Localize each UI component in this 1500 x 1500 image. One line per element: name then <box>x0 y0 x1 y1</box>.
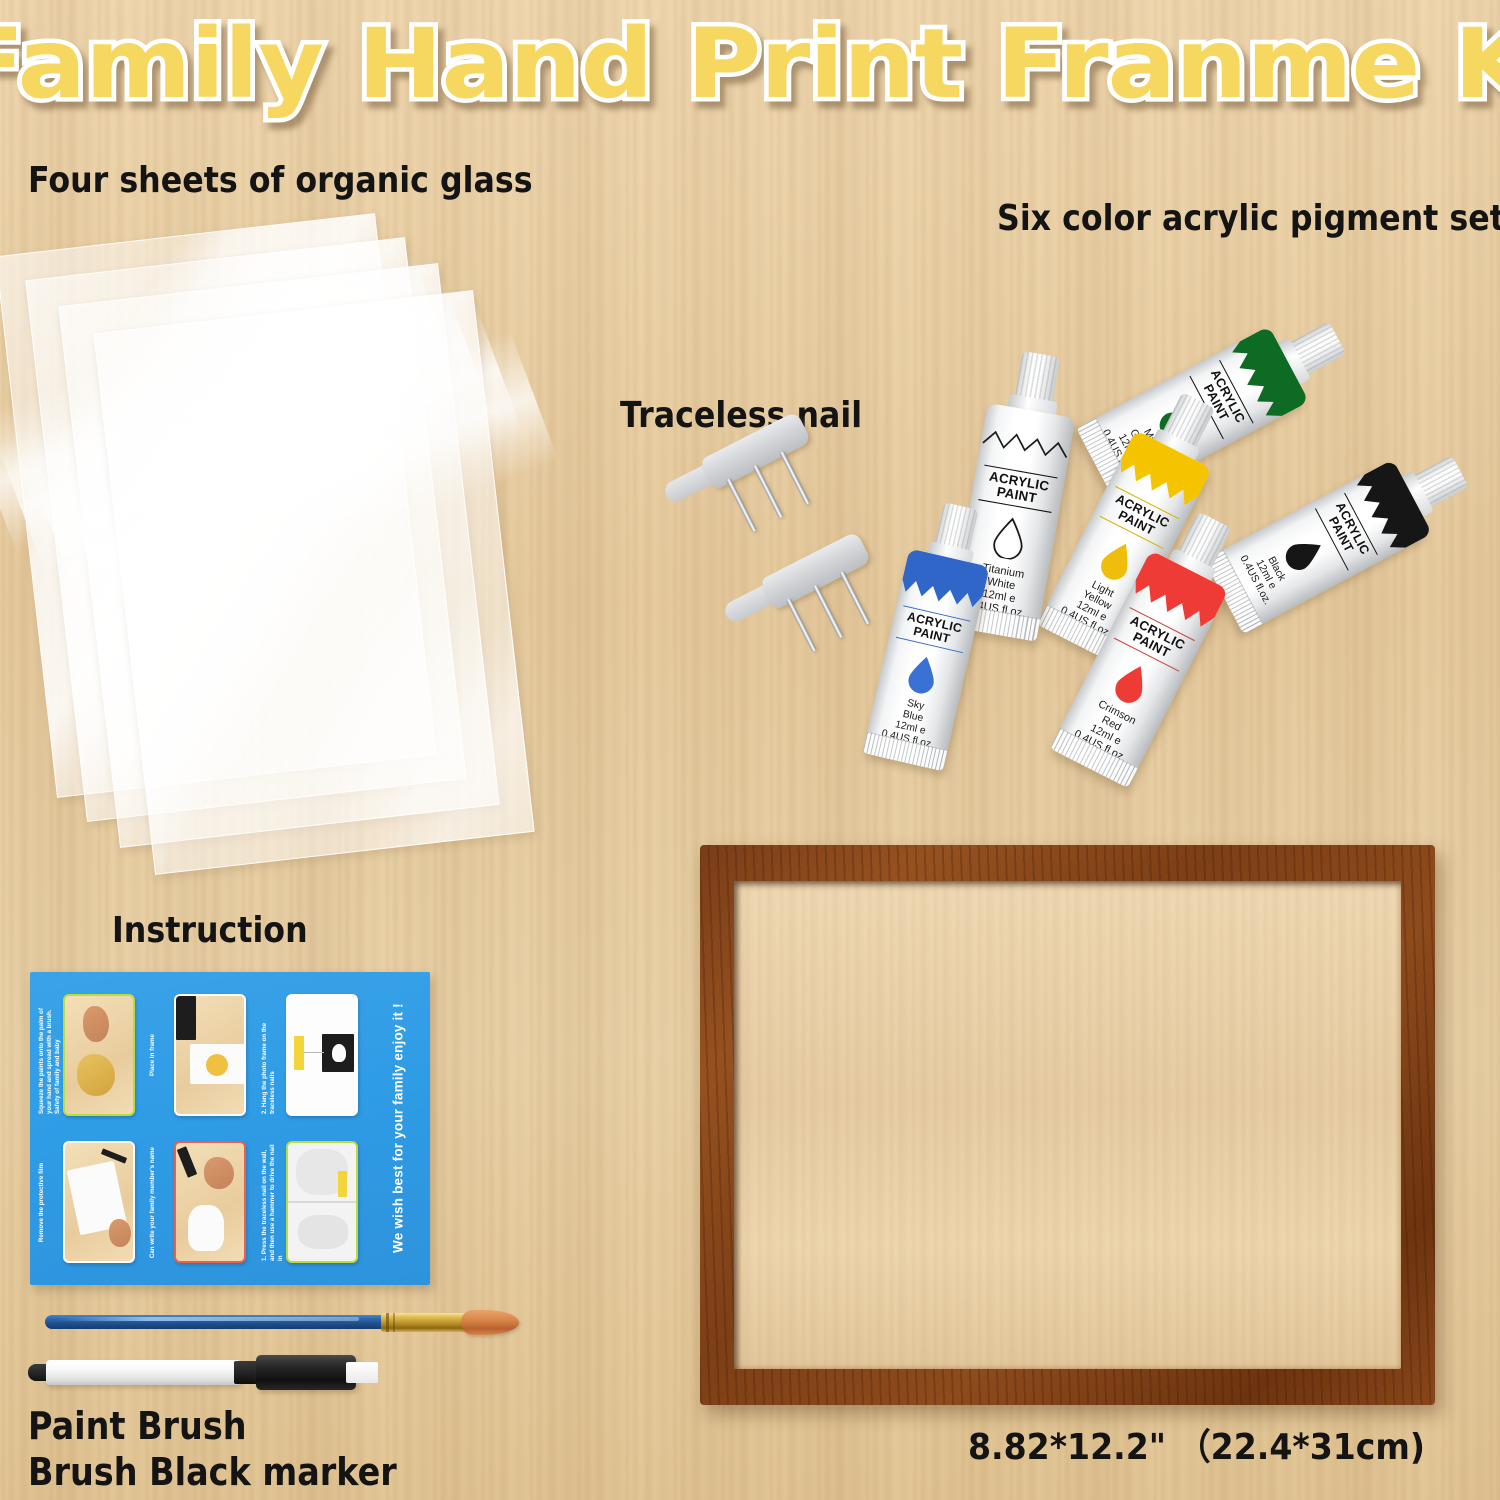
hand-shape <box>83 1006 109 1042</box>
glass-reflection <box>65 330 559 629</box>
instruction-step: 1. Press the traceless nail on the wall,… <box>261 1130 370 1276</box>
black-marker <box>28 1352 373 1392</box>
frame-inner-panel <box>734 881 1401 1369</box>
yellow-tag <box>294 1036 304 1070</box>
brush-bristles <box>461 1310 519 1335</box>
instruction-step-photo <box>286 1141 358 1263</box>
marker-cap <box>256 1355 356 1390</box>
instruction-step: Can write your family member's name <box>149 1130 258 1276</box>
instruction-grid: Squeeze the paints onto the palm of your… <box>30 972 430 1285</box>
photo-frame <box>700 845 1435 1405</box>
instruction-step-caption: Can write your family member's name <box>149 1147 171 1258</box>
instruction-step: Place in frame <box>149 982 258 1128</box>
brush-ferrule-ring <box>393 1313 395 1332</box>
product-infographic: Family Hand Print Franme Kit Four sheets… <box>0 0 1500 1500</box>
nail-pin <box>780 451 811 505</box>
paint-tube-black: ACRYLIC PAINT Black 12ml e 0.4US fl.oz. <box>1204 434 1480 634</box>
marker-tip <box>346 1362 378 1383</box>
dark-region <box>176 996 196 1040</box>
guide-line <box>304 1052 324 1054</box>
page-title: Family Hand Print Franme Kit <box>0 8 1500 120</box>
nail-pin <box>786 598 817 652</box>
instruction-step-caption: 2. Hang the photo frame on the traceless… <box>261 996 283 1114</box>
instruction-step: Squeeze the paints onto the palm of your… <box>38 982 147 1128</box>
tube-color-band <box>978 403 1076 475</box>
divider <box>288 1201 356 1203</box>
handprint-shape <box>188 1205 224 1251</box>
nail-illustration <box>332 1044 346 1062</box>
hand-shape <box>109 1219 131 1247</box>
marker-illustration <box>177 1146 198 1178</box>
tube-label: ACRYLIC PAINT Sky Blue 12ml e 0.4US fl.o… <box>866 604 977 754</box>
handprint-art <box>206 1054 228 1076</box>
nail-pin <box>840 571 871 625</box>
hammer-action <box>298 1215 348 1249</box>
nail-pin <box>813 584 844 638</box>
nail-pin <box>726 478 757 532</box>
instruction-step-photo <box>174 1141 246 1263</box>
instruction-step-caption: Remove the protective film <box>38 1163 60 1242</box>
label-frame-dimensions: 8.82*12.2" （22.4*31cm) <box>968 1418 1425 1470</box>
paint-tube-sky-blue: ACRYLIC PAINT Sky Blue 12ml e 0.4US fl.o… <box>862 497 1001 771</box>
instruction-step-caption: 1. Press the traceless nail on the wall,… <box>261 1143 283 1261</box>
label-paint-brush: Paint Brush <box>28 1404 247 1448</box>
paint-brush <box>45 1305 520 1339</box>
label-organic-glass: Four sheets of organic glass <box>28 160 533 201</box>
brush-ferrule-ring <box>386 1313 389 1332</box>
instruction-step-photo <box>63 994 135 1116</box>
instruction-wish-text: We wish best for your family enjoy it ! <box>372 982 424 1275</box>
instruction-step-photo <box>174 994 246 1116</box>
brush-handle-highlight <box>59 1317 359 1321</box>
label-black-marker: Brush Black marker <box>28 1450 397 1494</box>
label-instruction: Instruction <box>112 910 308 951</box>
instruction-step-photo <box>63 1141 135 1263</box>
hand-shape <box>204 1157 234 1189</box>
instruction-step: Remove the protective film <box>38 1130 147 1276</box>
glass-sheet <box>93 290 534 875</box>
yellow-tag <box>338 1171 347 1197</box>
instruction-step-photo <box>286 994 358 1116</box>
label-pigment-set: Six color acrylic pigment set <box>997 198 1500 239</box>
instruction-card: Squeeze the paints onto the palm of your… <box>30 972 430 1285</box>
tube-body: ACRYLIC PAINT Sky Blue 12ml e 0.4US fl.o… <box>862 548 989 771</box>
organic-glass-stack <box>25 225 585 885</box>
nail-pin <box>753 464 784 518</box>
instruction-step-caption: Place in frame <box>149 1034 171 1076</box>
marker-barrel <box>46 1360 241 1385</box>
tube-brand: ACRYLIC PAINT <box>978 465 1057 513</box>
painted-hand-shape <box>77 1054 115 1096</box>
instruction-step-caption: Squeeze the paints onto the palm of your… <box>38 996 60 1114</box>
label-traceless-nail: Traceless nail <box>620 395 862 436</box>
instruction-step: 2. Hang the photo frame on the traceless… <box>261 982 370 1128</box>
